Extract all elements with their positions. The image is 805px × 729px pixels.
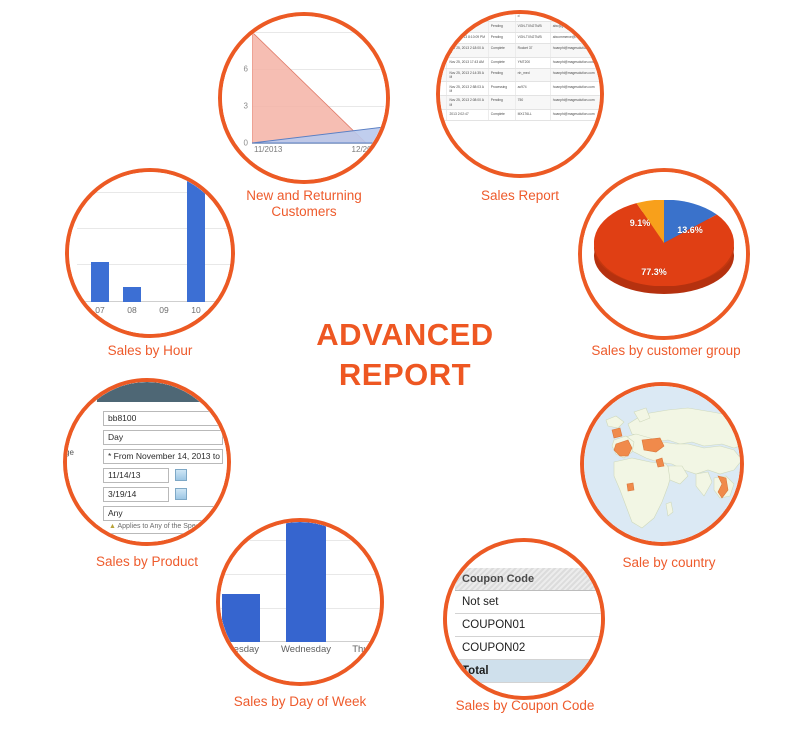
node-sale-by-country[interactable] xyxy=(580,382,744,546)
x-tick-label-tuesday: Tuesday xyxy=(223,644,259,655)
table-row: Dec 6, 2013 8:10:09 PMPendingVGN-TXN27N/… xyxy=(440,32,600,43)
x-tick-label-thursday: Thursday xyxy=(352,644,380,655)
caption-sales-by-coupon-code: Sales by Coupon Code xyxy=(435,698,615,714)
circle-frame xyxy=(580,382,744,546)
table-cell xyxy=(447,14,488,21)
landmass-africa xyxy=(614,458,672,528)
caption-sales-by-product: Sales by Product xyxy=(67,554,227,570)
circle-frame: Coupon Code Not setCOUPON01COUPON02Total xyxy=(443,538,605,700)
pie-3d: 13.6% 9.1% 77.3% xyxy=(594,200,734,308)
table-cell: 0005 xyxy=(440,68,447,82)
table-cell: 750 xyxy=(515,96,550,110)
table-row: 0006Nov 25, 2013 17:43 AMCompleteYMT200h… xyxy=(440,57,600,68)
pie-chart-surface: 13.6% 9.1% 77.3% xyxy=(582,172,746,336)
circle-frame: ge bb8100 Day * From November 14, 2013 t… xyxy=(63,378,231,546)
hour-chart-surface: 07 08 09 10 11 xyxy=(69,172,231,334)
form-side-label: ge xyxy=(67,448,74,457)
node-sales-report[interactable]: PendingHTC Touch Diamondnic.million@gmai… xyxy=(436,10,604,178)
table-cell: Pending xyxy=(488,21,515,32)
page-title: ADVANCED REPORT xyxy=(255,315,555,395)
table-cell: HTC Touch Diamond xyxy=(515,14,550,21)
table-cell: YMT200 xyxy=(515,57,550,68)
warning-icon: ▲ xyxy=(109,523,116,530)
x-tick-label: 11 xyxy=(224,305,231,315)
table-row[interactable]: Not set xyxy=(455,591,601,614)
calendar-icon-from[interactable] xyxy=(175,469,187,481)
coupon-table-body: Not setCOUPON01COUPON02Total xyxy=(455,591,601,683)
caption-sale-by-country: Sale by country xyxy=(580,555,758,571)
table-cell: 0006 xyxy=(440,57,447,68)
circle-frame: Tuesday Wednesday Thursday xyxy=(216,518,384,686)
node-sales-by-day-of-week[interactable]: Tuesday Wednesday Thursday xyxy=(216,518,384,686)
table-cell: Processing xyxy=(488,82,515,96)
table-row-total: Total xyxy=(455,660,601,683)
node-sales-by-customer-group[interactable]: 13.6% 9.1% 77.3% xyxy=(578,168,750,340)
y-tick-label: 0 xyxy=(244,139,248,148)
table-row: PendingHTC Touch Diamondnic.million@gmai… xyxy=(440,14,600,21)
table-cell: Nov 25, 2013 17:43 AM xyxy=(447,57,488,68)
total-label: Total xyxy=(455,660,601,683)
table-cell: 0007 xyxy=(440,43,447,57)
node-sales-by-product[interactable]: ge bb8100 Day * From November 14, 2013 t… xyxy=(63,378,231,546)
caption-sales-by-customer-group: Sales by customer group xyxy=(578,343,754,359)
table-cell: Pending xyxy=(488,96,515,110)
coupon-code-cell: Not set xyxy=(455,591,601,614)
table-cell: Dec 6, 2013 8:10:09 PM xyxy=(447,32,488,43)
table-row: Nov 25, 2013 2:58:03 AMProcessingac974ho… xyxy=(440,82,600,96)
table-cell: Pending xyxy=(488,32,515,43)
table-cell: MX176LL xyxy=(515,109,550,120)
gridline xyxy=(77,228,231,229)
y-tick-label: 6 xyxy=(244,65,248,74)
country-united-kingdom xyxy=(612,428,622,438)
area-series-new xyxy=(252,32,384,144)
table-row: 0005Nov 25, 2013 2:14:35 AMPendingnh_med… xyxy=(440,68,600,82)
x-tick-label: 11/2013 xyxy=(254,145,282,154)
page-title-line1: ADVANCED xyxy=(255,315,555,355)
field-date-from[interactable]: 11/14/13 xyxy=(103,468,169,483)
sales-report-clip: PendingHTC Touch Diamondnic.million@gmai… xyxy=(440,14,600,174)
table-cell xyxy=(440,14,447,21)
bar-hour-10 xyxy=(187,172,205,302)
table-cell: hoanphi@magesolution.com xyxy=(550,109,600,120)
field-sku[interactable]: bb8100 xyxy=(103,411,223,426)
table-cell: hoanphi@magesolution.com xyxy=(550,68,600,82)
form-header-bar xyxy=(97,382,227,402)
table-cell: abc@gmail.com xyxy=(550,21,600,32)
field-range-note: * From November 14, 2013 to M xyxy=(103,449,223,464)
form-hint-text: Applies to Any of the Specifi xyxy=(118,523,205,530)
table-cell: hoanphi@magesolution.com xyxy=(550,57,600,68)
table-cell: nic.million@gmail.com xyxy=(550,14,600,21)
table-cell: 74 10:45:24 xyxy=(440,21,447,32)
table-cell: Complete xyxy=(488,43,515,57)
caption-new-and-returning-customers: New and Returning Customers xyxy=(214,188,394,220)
x-tick-label: 10 xyxy=(191,305,200,315)
x-tick-label: 12/2013 xyxy=(352,145,381,154)
pie-label-red: 77.3% xyxy=(641,267,667,277)
table-cell xyxy=(440,32,447,43)
x-tick-label: 09 xyxy=(159,305,168,315)
calendar-icon-to[interactable] xyxy=(175,488,187,500)
table-header-row: Coupon Code xyxy=(455,568,601,591)
table-cell: 2013 2:02:47 xyxy=(447,109,488,120)
product-form-surface: ge bb8100 Day * From November 14, 2013 t… xyxy=(67,382,227,542)
field-order-status[interactable]: Any xyxy=(103,506,223,521)
table-cell: hoanphi@magesolution.com xyxy=(550,82,600,96)
caption-sales-by-hour: Sales by Hour xyxy=(70,343,230,359)
product-form-clip: ge bb8100 Day * From November 14, 2013 t… xyxy=(67,382,227,542)
landmass-madagascar xyxy=(666,502,673,516)
table-row: 0007Nov 25, 2013 2:18:00 AMCompleteRocke… xyxy=(440,43,600,57)
circle-frame: 9 6 3 0 11/2013 12/2013 xyxy=(218,12,390,184)
table-cell: Complete xyxy=(488,109,515,120)
table-cell: hoanphi@magesolution.com xyxy=(550,43,600,57)
table-cell xyxy=(447,21,488,32)
table-cell xyxy=(440,82,447,96)
table-row[interactable]: COUPON01 xyxy=(455,614,601,637)
area-chart-clip: 9 6 3 0 11/2013 12/2013 xyxy=(222,16,386,180)
caption-sales-report: Sales Report xyxy=(440,188,600,204)
field-date-to[interactable]: 3/19/14 xyxy=(103,487,169,502)
table-cell xyxy=(440,109,447,120)
caption-sales-by-day-of-week: Sales by Day of Week xyxy=(210,694,390,710)
table-cell: Nov 25, 2013 2:58:03 AM xyxy=(447,82,488,96)
table-row: 2013 2:02:47CompleteMX176LLhoanphi@mages… xyxy=(440,109,600,120)
gridline xyxy=(77,192,231,193)
y-tick-label: 3 xyxy=(244,102,248,111)
pie-label-blue: 13.6% xyxy=(677,225,703,235)
table-cell: nh_med xyxy=(515,68,550,82)
pie-label-orange: 9.1% xyxy=(630,218,651,228)
y-tick-label: 9 xyxy=(244,28,248,37)
coupon-table-clip: Coupon Code Not setCOUPON01COUPON02Total xyxy=(447,542,601,696)
landmass-india xyxy=(696,472,712,496)
table-row: 74 10:45:24PendingVGN-TXN27N/Babc@gmail.… xyxy=(440,21,600,32)
landmass-iceland xyxy=(606,416,624,428)
field-empty-rows[interactable]: No xyxy=(103,533,223,542)
table-cell xyxy=(440,96,447,110)
circle-frame: 07 08 09 10 11 xyxy=(65,168,235,338)
map-clip xyxy=(584,386,740,542)
pie-chart-clip: 13.6% 9.1% 77.3% xyxy=(582,172,746,336)
bar-dow-tuesday xyxy=(222,594,260,642)
table-cell: Pending xyxy=(488,68,515,82)
dow-chart-clip: Tuesday Wednesday Thursday xyxy=(220,522,380,682)
column-header-coupon-code: Coupon Code xyxy=(455,568,601,591)
table-cell: VGN-TXN27N/B xyxy=(515,21,550,32)
table-row[interactable]: COUPON02 xyxy=(455,637,601,660)
bar-hour-07 xyxy=(91,262,109,302)
node-new-and-returning-customers[interactable]: 9 6 3 0 11/2013 12/2013 xyxy=(218,12,390,184)
table-cell: ac974 xyxy=(515,82,550,96)
field-period[interactable]: Day xyxy=(103,430,223,445)
table-cell: VGN-TXN27N/B xyxy=(515,32,550,43)
sales-report-tbody: PendingHTC Touch Diamondnic.million@gmai… xyxy=(440,14,600,120)
sales-report-table: PendingHTC Touch Diamondnic.million@gmai… xyxy=(440,14,600,121)
table-cell: abcommerce@hotmail.com.br xyxy=(550,32,600,43)
page-title-line2: REPORT xyxy=(255,355,555,395)
table-cell: Nov 25, 2013 2:18:00 AM xyxy=(447,43,488,57)
table-cell: Pending xyxy=(488,14,515,21)
bar-hour-08 xyxy=(123,287,141,302)
world-map xyxy=(584,386,740,542)
country-ghana xyxy=(627,483,634,491)
circle-frame: PendingHTC Touch Diamondnic.million@gmai… xyxy=(436,10,604,178)
advanced-report-infographic: ADVANCED REPORT 9 6 3 0 xyxy=(0,0,805,729)
area-chart-surface: 9 6 3 0 11/2013 12/2013 xyxy=(222,16,386,180)
node-sales-by-coupon-code[interactable]: Coupon Code Not setCOUPON01COUPON02Total xyxy=(443,538,605,700)
dow-chart-surface: Tuesday Wednesday Thursday xyxy=(220,522,380,682)
form-hint: ▲ Applies to Any of the Specifi xyxy=(109,523,204,530)
table-cell: hoanphi@magesolution.com xyxy=(550,96,600,110)
table-cell: Nov 25, 2013 2:08:00 AM xyxy=(447,96,488,110)
coupon-code-cell: COUPON01 xyxy=(455,614,601,637)
table-cell: Rocket 37 xyxy=(515,43,550,57)
table-cell: Nov 25, 2013 2:14:35 AM xyxy=(447,68,488,82)
node-sales-by-hour[interactable]: 07 08 09 10 11 xyxy=(65,168,235,338)
hour-chart-clip: 07 08 09 10 11 xyxy=(69,172,231,334)
circle-frame: 13.6% 9.1% 77.3% xyxy=(578,168,750,340)
coupon-code-cell: COUPON02 xyxy=(455,637,601,660)
coupon-code-table: Coupon Code Not setCOUPON01COUPON02Total xyxy=(455,568,601,683)
x-tick-label: 08 xyxy=(127,305,136,315)
x-tick-label-wednesday: Wednesday xyxy=(281,644,331,655)
bar-dow-wednesday xyxy=(286,522,326,642)
x-tick-label: 07 xyxy=(95,305,104,315)
table-cell: Complete xyxy=(488,57,515,68)
table-row: Nov 25, 2013 2:08:00 AMPending750hoanphi… xyxy=(440,96,600,110)
